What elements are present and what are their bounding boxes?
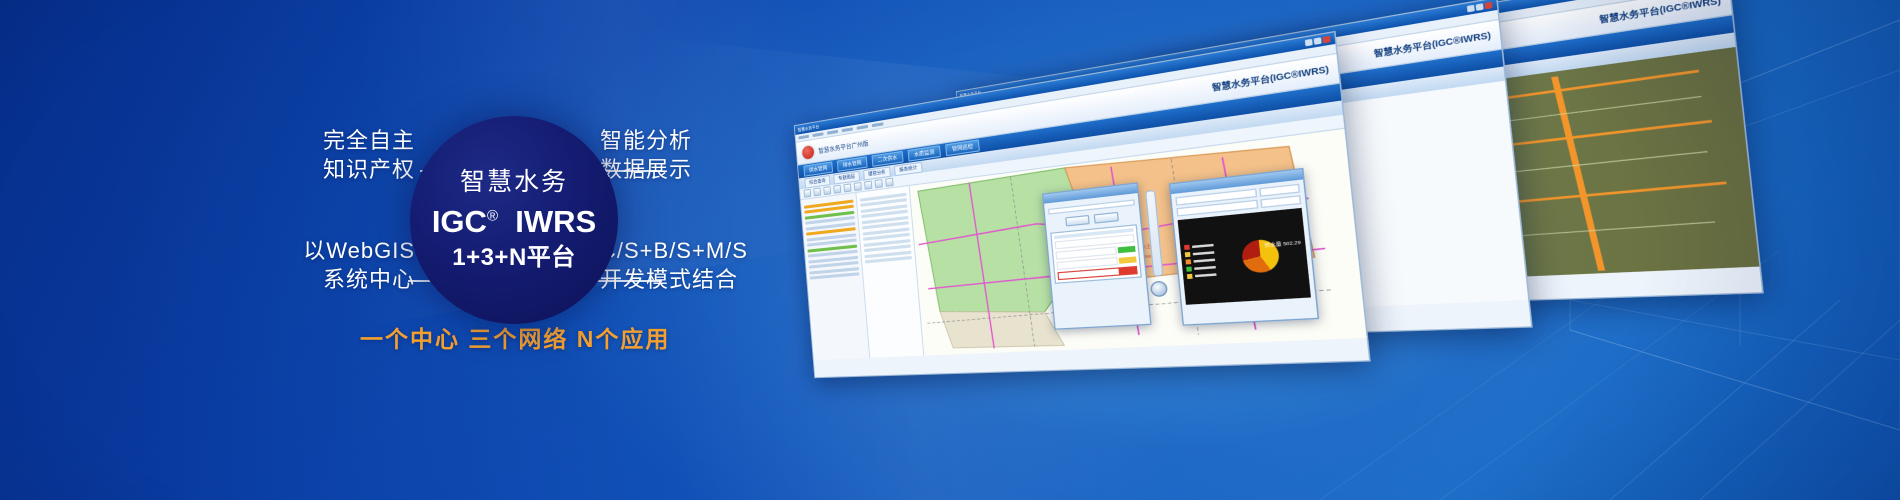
badge-product: IGC® IWRS [432,206,596,237]
open-icon [804,189,812,198]
feature-top-left-line1: 完全自主 [310,126,415,155]
screenshot-stack: 智慧水务平台 智慧水务平台 智慧水务平台(IGC®IWRS) 供水管网 排水管网… [790,50,1900,390]
menu-file-icon [798,135,809,140]
brand-label: 智慧水务平台广州版 [818,138,869,155]
registered-mark-icon: ® [487,208,498,225]
gauge-legend [1184,243,1217,279]
feature-bottom-left-line1: 以WebGIS [290,236,415,265]
select-icon [864,180,872,189]
menu-help-icon [872,122,884,127]
pan-icon [854,182,862,191]
feature-bottom-right-line1: C/S+B/S+M/S [600,236,748,265]
feature-top-right: 智能分析 数据展示 [600,126,692,184]
tagline: 一个中心 三个网络 N个应用 [360,320,670,354]
feature-cluster: 完全自主 知识产权 智能分析 数据展示 以WebGIS 系统中心 C/S+B/S… [290,108,790,338]
identify-icon [885,178,894,187]
badge-product-code: IGC [432,204,487,239]
feature-bottom-left: 以WebGIS 系统中心 [290,236,415,294]
promo-banner: 完全自主 知识产权 智能分析 数据展示 以WebGIS 系统中心 C/S+B/S… [0,0,1900,500]
menu-window-icon [857,125,869,130]
print-icon [823,186,831,195]
maximize-icon [1314,37,1322,45]
zoom-in-icon [833,185,841,194]
dialog-water-monitor[interactable]: 供水量 502.29 [1169,168,1319,326]
dialog-result-table [1050,224,1142,284]
badge-title-cn: 智慧水务 [460,170,568,195]
feature-top-left-line2: 知识产权 [310,155,415,184]
feature-bottom-right: C/S+B/S+M/S 开发模式结合 [600,236,748,294]
menu-view-icon [827,130,838,135]
close-icon [1322,36,1330,44]
window-gis-map[interactable]: 智慧水务平台 智慧水务平台广州版 智慧水务平台(IGC®IWRS) 供水管网 排… [794,31,1371,378]
feature-bottom-left-line2: 系统中心 [290,265,415,294]
app-logo-icon [802,145,815,160]
dialog-reset-button[interactable] [1094,212,1119,224]
gauge-panel: 供水量 502.29 [1178,208,1311,305]
zoom-out-icon [843,183,851,192]
center-badge: 智慧水务 IGC® IWRS 1+3+N平台 [410,116,618,324]
measure-icon [875,179,883,188]
menu-edit-icon [813,132,824,137]
save-icon [813,187,821,196]
menu-tools-icon [842,127,853,132]
dialog-pipe-query[interactable] [1042,182,1152,329]
maximize-icon [1476,3,1484,11]
connector-rule-bottom-right [590,280,662,282]
gauge-value: 供水量 502.29 [1264,239,1301,250]
dialog-body [1044,193,1146,287]
dialog-query-button[interactable] [1065,215,1090,227]
close-icon [1484,2,1492,10]
badge-product-name: IWRS [515,204,596,239]
feature-top-left: 完全自主 知识产权 [310,126,415,184]
minimize-icon [1305,39,1313,47]
feature-top-right-line1: 智能分析 [600,126,692,155]
badge-platform: 1+3+N平台 [452,246,576,270]
attribute-row [865,256,912,263]
minimize-icon [1467,5,1475,13]
dialog-body: 供水量 502.29 [1171,179,1316,308]
